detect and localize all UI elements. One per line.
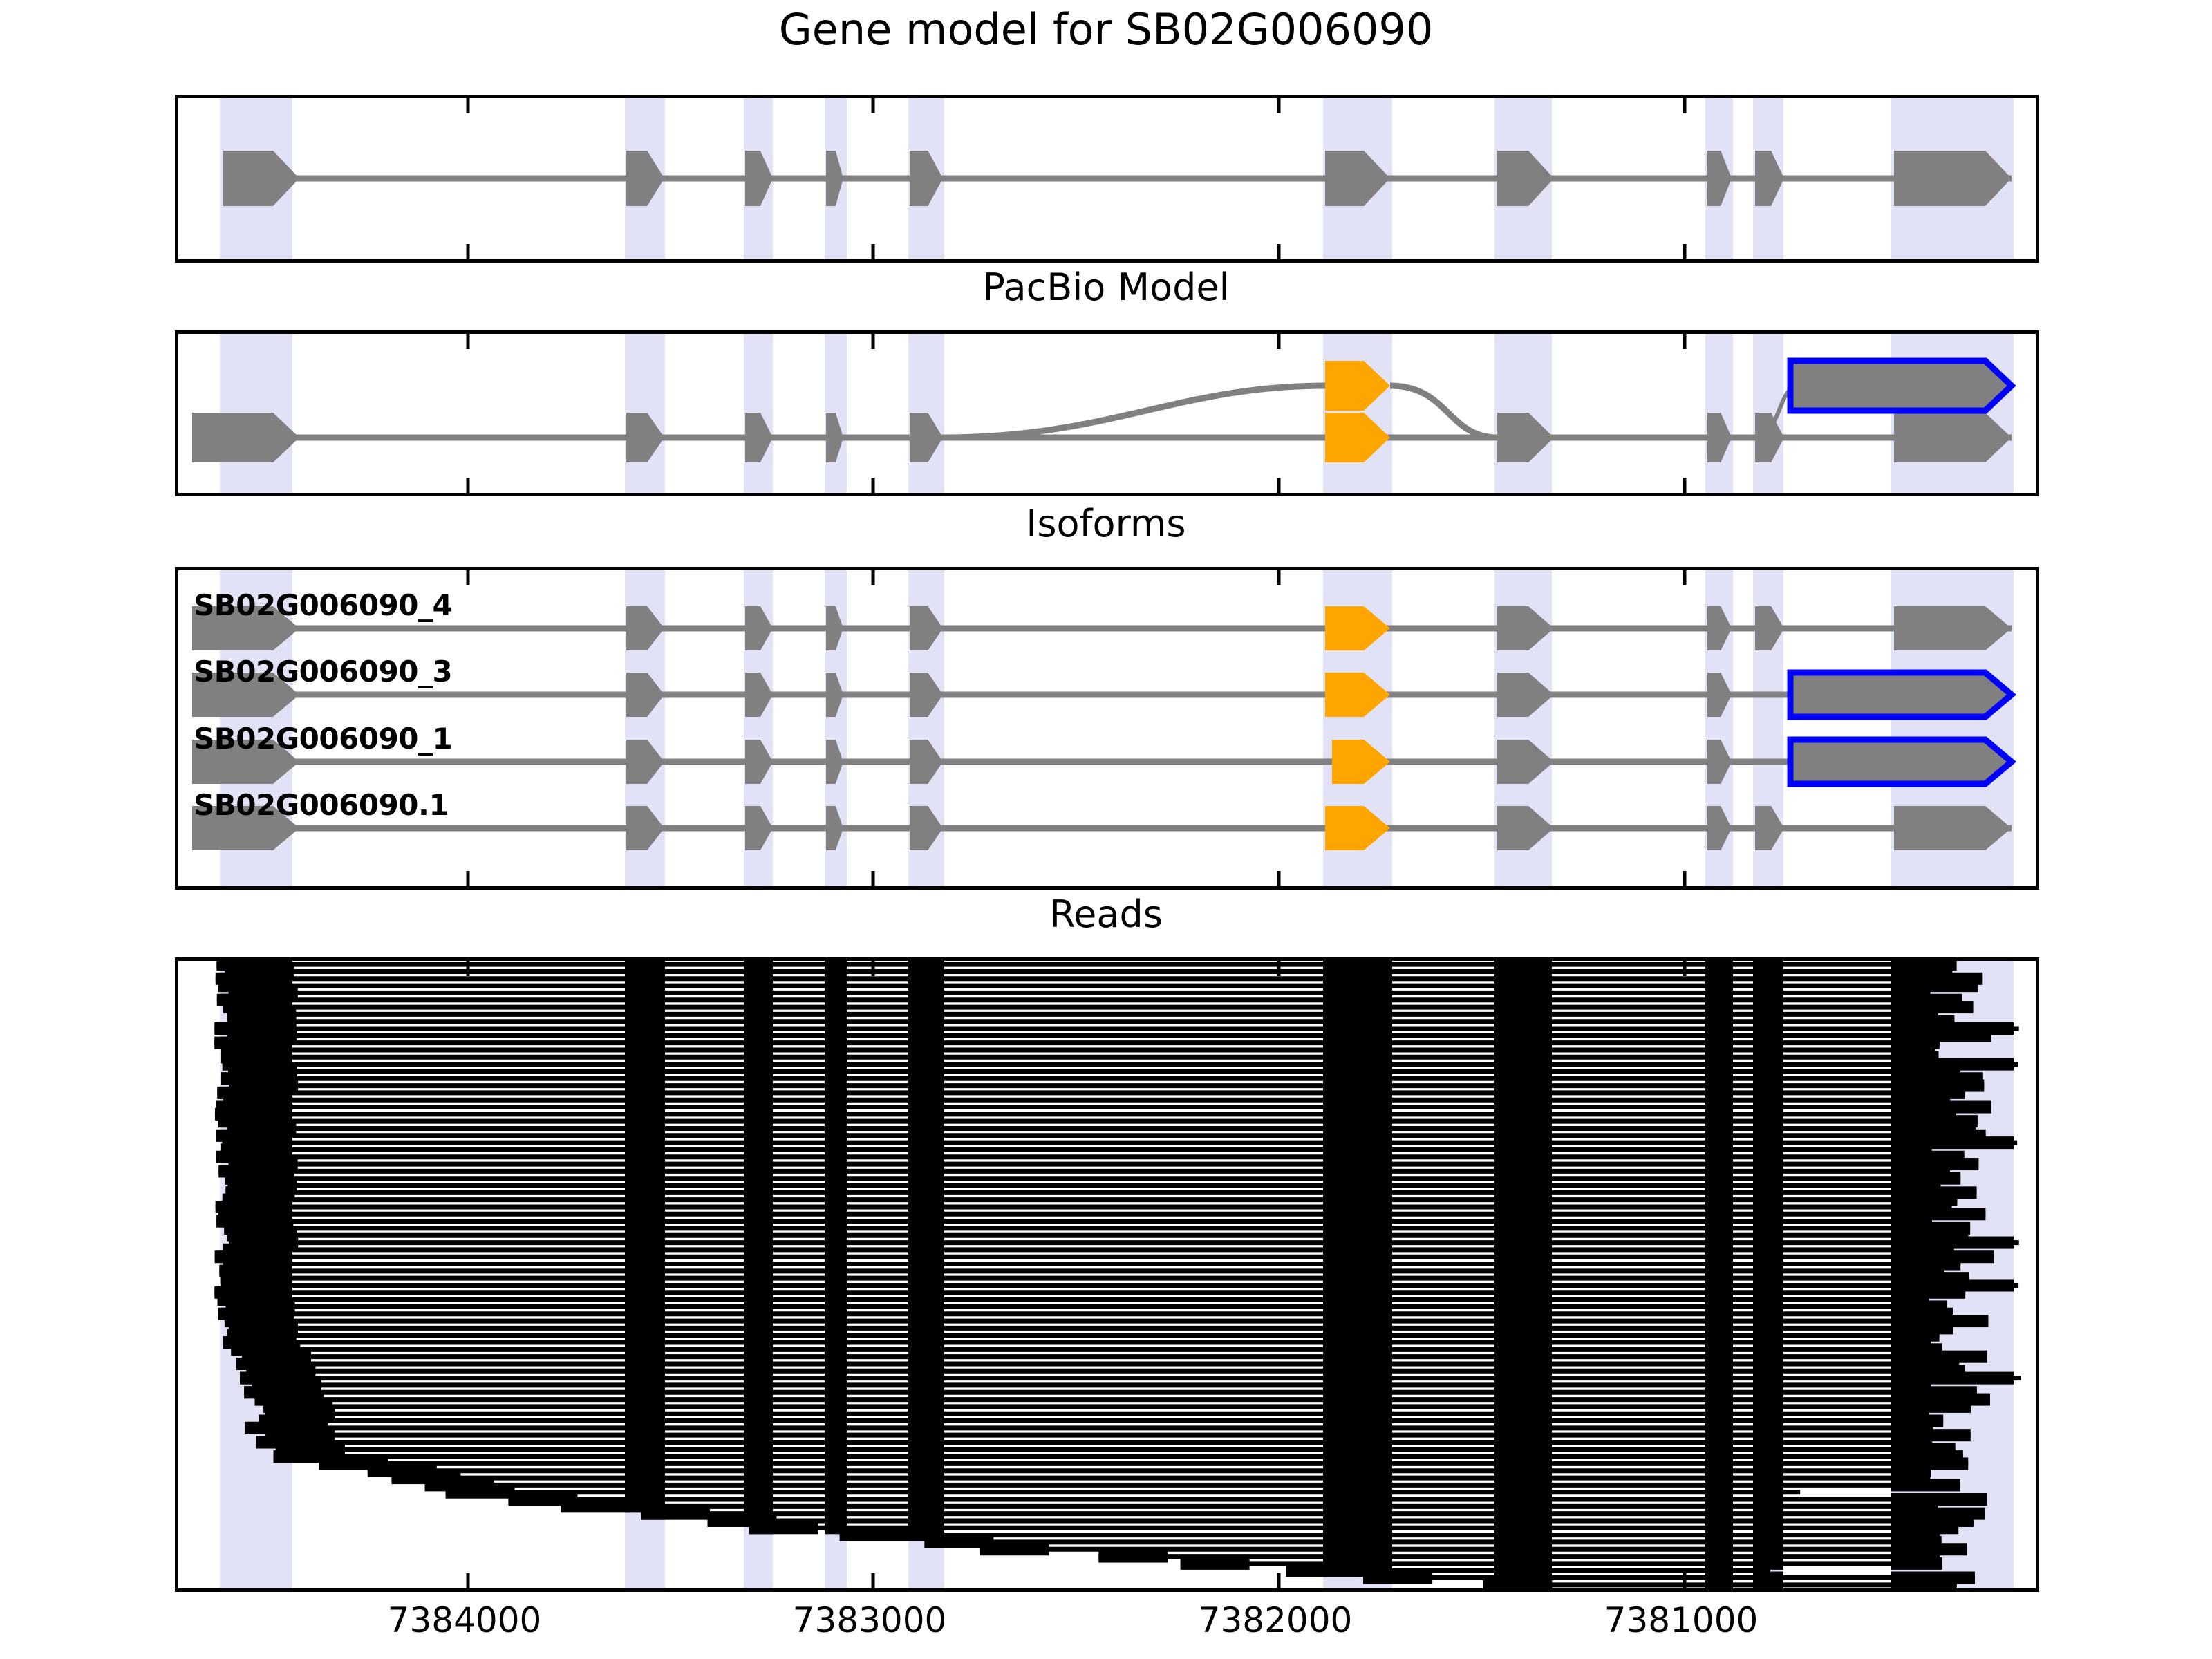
read-exon-block [1891,1479,1960,1491]
x-tick-label: 7383000 [793,1600,947,1640]
isoform-label: SB02G006090.1 [194,788,449,822]
pacbio-model-title: PacBio Model [0,266,2212,309]
reads-panel [175,957,2039,1592]
read-exon-block [749,1521,818,1534]
isoforms-panel: SB02G006090_4SB02G006090_3SB02G006090_1S… [175,567,2039,890]
reads-title: Reads [0,893,2212,936]
read-exon-block [1753,1579,1783,1588]
read-exon-block [446,1486,515,1499]
read-exon-block [1098,1550,1168,1563]
isoforms-track [178,570,2036,886]
x-tick-label: 7381000 [1604,1600,1759,1640]
isoform-label: SB02G006090_1 [194,722,452,756]
pacbio-model-panel [175,330,2039,496]
x-tick-label: 7384000 [388,1600,542,1640]
read-exon-block [1181,1557,1250,1570]
exon-block [1790,740,2012,784]
read-exon-block [1363,1572,1432,1584]
isoform-label: SB02G006090_3 [194,655,452,688]
read-exon-block [1891,1557,1942,1570]
splice-arc [944,386,1325,438]
reads-track [178,961,2036,1588]
splice-arc [1390,386,1497,438]
exon-block [1790,673,2012,717]
read-exon-block [1483,1579,1552,1588]
read-exon-block [561,1500,630,1512]
read-exon-block [1705,1579,1733,1588]
read-exon-block [1891,1579,1957,1588]
gene-model-track [178,98,2036,259]
gene-model-panel [175,95,2039,263]
exon-block [1790,361,2012,411]
read-exon-block [1286,1564,1355,1577]
read-exon-block [840,1529,909,1541]
isoform-label: SB02G006090_4 [194,588,452,622]
gene-model-title: Gene model for SB02G006090 [0,6,2212,54]
read-exon-block [641,1508,710,1520]
genome-browser-figure: Gene model for SB02G006090 PacBio Model … [0,0,2212,1659]
x-tick-label: 7382000 [1199,1600,1353,1640]
read-exon-block [980,1543,1049,1555]
pacbio-model-track [178,334,2036,493]
isoforms-title: Isoforms [0,503,2212,545]
